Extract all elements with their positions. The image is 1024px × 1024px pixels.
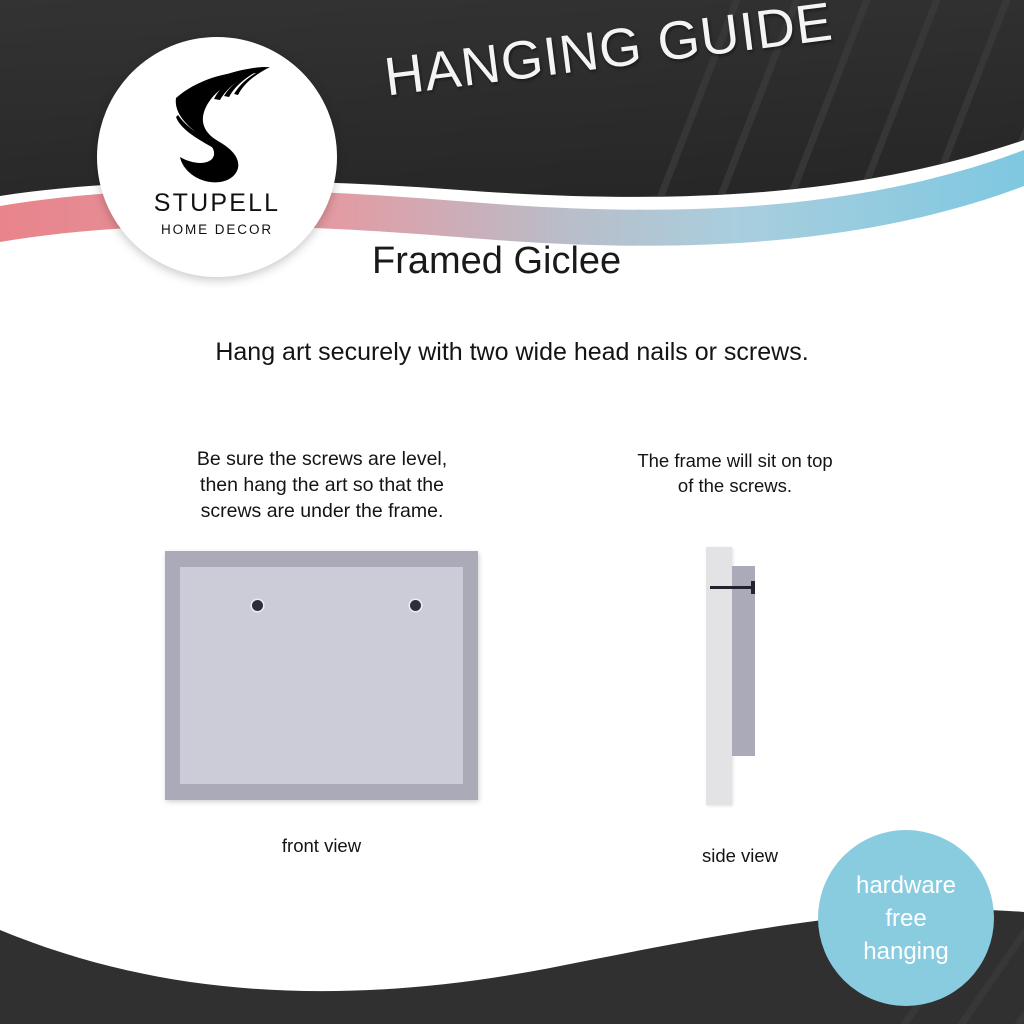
nail-shaft-icon: [710, 586, 754, 589]
screw-dot-right: [410, 600, 421, 611]
front-caption-line-1: Be sure the screws are level,: [142, 446, 502, 472]
badge-line-1: hardware: [856, 869, 956, 902]
front-view-label: front view: [165, 835, 478, 857]
logo-wordmark: STUPELL: [154, 189, 281, 218]
brand-logo-badge: STUPELL HOME DECOR: [97, 37, 337, 277]
side-view-diagram: [706, 547, 776, 805]
page-title: HANGING GUIDE: [381, 0, 836, 109]
hardware-free-hanging-badge: hardware free hanging: [818, 830, 994, 1006]
side-view-caption: The frame will sit on top of the screws.: [570, 448, 900, 498]
badge-line-3: hanging: [863, 935, 948, 968]
side-view-label: side view: [645, 845, 835, 867]
side-caption-line-1: The frame will sit on top: [570, 448, 900, 473]
front-caption-line-3: screws are under the frame.: [142, 498, 502, 524]
product-subtitle: Framed Giclee: [372, 240, 621, 283]
stupell-swoosh-icon: [158, 63, 276, 185]
badge-line-2: free: [885, 902, 926, 935]
side-view-frame: [732, 566, 755, 756]
main-instruction-text: Hang art securely with two wide head nai…: [0, 338, 1024, 367]
front-view-artwork-area: [180, 567, 463, 784]
nail-head-icon: [751, 581, 755, 594]
hanging-guide-page: STUPELL HOME DECOR HANGING GUIDE Framed …: [0, 0, 1024, 1024]
screw-dot-left: [252, 600, 263, 611]
logo-subwordmark: HOME DECOR: [161, 222, 273, 237]
side-caption-line-2: of the screws.: [570, 473, 900, 498]
front-view-caption: Be sure the screws are level, then hang …: [142, 446, 502, 524]
front-caption-line-2: then hang the art so that the: [142, 472, 502, 498]
front-view-diagram: [165, 551, 478, 800]
